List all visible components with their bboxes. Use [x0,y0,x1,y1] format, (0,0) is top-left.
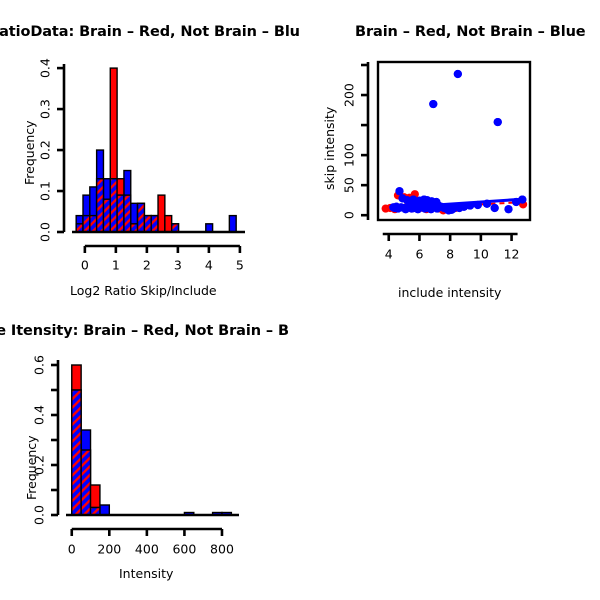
x-tick-label: 5 [236,258,244,273]
hist-bar-overlap [138,203,145,232]
hist-bar-notbrain [100,505,109,515]
hist-bar-overlap [124,195,131,232]
hist-intensity-xlabel: Intensity [119,566,173,581]
x-tick-label: 200 [97,542,121,557]
hist-bar-brain [158,195,165,232]
y-tick-label: 0.4 [38,58,53,78]
y-tick-label: 0.3 [38,99,53,119]
y-tick-label: 100 [342,143,357,167]
y-tick-label: 0.2 [38,140,53,160]
x-tick-label: 400 [135,542,159,557]
x-tick-label: 12 [504,247,520,262]
y-tick-label: 0.0 [38,222,53,242]
hist-intensity-title: ne Itensity: Brain – Red, Not Brain – B [0,323,289,339]
scatter-xlabel: include intensity [398,285,501,300]
hist-ratio-xlabel: Log2 Ratio Skip/Include [70,283,217,298]
hist-ratio-plot-area: 0.00.10.20.30.4012345 [0,0,300,300]
y-tick-label: 200 [342,83,357,107]
x-tick-label: 4 [385,247,393,262]
hist-intensity-ylabel: Frequency [24,435,39,500]
scatter-point [448,206,456,214]
scatter-plot-area: 0501002004681012 [300,0,600,300]
scatter-point [494,118,502,126]
x-tick-label: 0 [68,542,76,557]
x-tick-label: 4 [205,258,213,273]
hist-bar-notbrain [229,216,236,232]
x-tick-label: 8 [446,247,454,262]
panel-scatter-intensity: Brain – Red, Not Brain – Blue skip inten… [300,0,600,300]
x-tick-label: 6 [415,247,423,262]
scatter-point [491,204,499,212]
hist-bar-overlap [151,216,158,232]
x-tick-label: 3 [174,258,182,273]
scatter-point [483,200,491,208]
x-tick-label: 600 [172,542,196,557]
hist-bar-overlap [103,199,110,232]
y-tick-label: 50 [342,177,357,193]
hist-bar-brain [110,68,117,179]
hist-ratio-ylabel: Frequency [22,120,37,185]
x-tick-label: 1 [112,258,120,273]
scatter-point [395,187,403,195]
y-tick-label: 0.1 [38,181,53,201]
hist-bar-overlap [81,450,90,515]
hist-bar-overlap [110,179,117,232]
hist-bar-brain [117,179,124,195]
hist-bar-brain [91,485,100,508]
y-tick-label: 0.0 [32,505,47,525]
x-tick-label: 800 [210,542,234,557]
scatter-point [429,100,437,108]
y-tick-label: 0.6 [32,355,47,375]
hist-bar-overlap [72,390,81,515]
hist-bar-overlap [117,195,124,232]
scatter-point [518,195,526,203]
x-tick-label: 0 [81,258,89,273]
hist-bar-brain [165,216,172,232]
y-tick-label: 0 [342,211,357,219]
panel-histogram-intensity: ne Itensity: Brain – Red, Not Brain – B … [0,300,300,600]
hist-bar-overlap [97,179,104,232]
panel-info: G6940692@J914200@j_ alt3Prime Ramp2 chr1… [300,300,600,600]
scatter-point [454,70,462,78]
x-tick-label: 10 [473,247,489,262]
hist-intensity-plot-area: 0.00.20.40.60200400600800 [0,300,300,600]
scatter-point [474,201,482,209]
x-tick-label: 2 [143,258,151,273]
scatter-title: Brain – Red, Not Brain – Blue [355,24,586,40]
hist-bar-overlap [83,216,90,232]
scatter-ylabel: skip intensity [322,107,337,190]
hist-bar-overlap [90,216,97,232]
y-tick-label: 0.4 [32,405,47,425]
hist-ratio-title: RatioData: Brain – Red, Not Brain – Blu [0,24,300,40]
hist-bar-brain [72,365,81,390]
hist-bar-overlap [144,216,151,232]
scatter-point [504,205,512,213]
scatter-point [466,201,474,209]
panel-histogram-ratio: RatioData: Brain – Red, Not Brain – Blu … [0,0,300,300]
